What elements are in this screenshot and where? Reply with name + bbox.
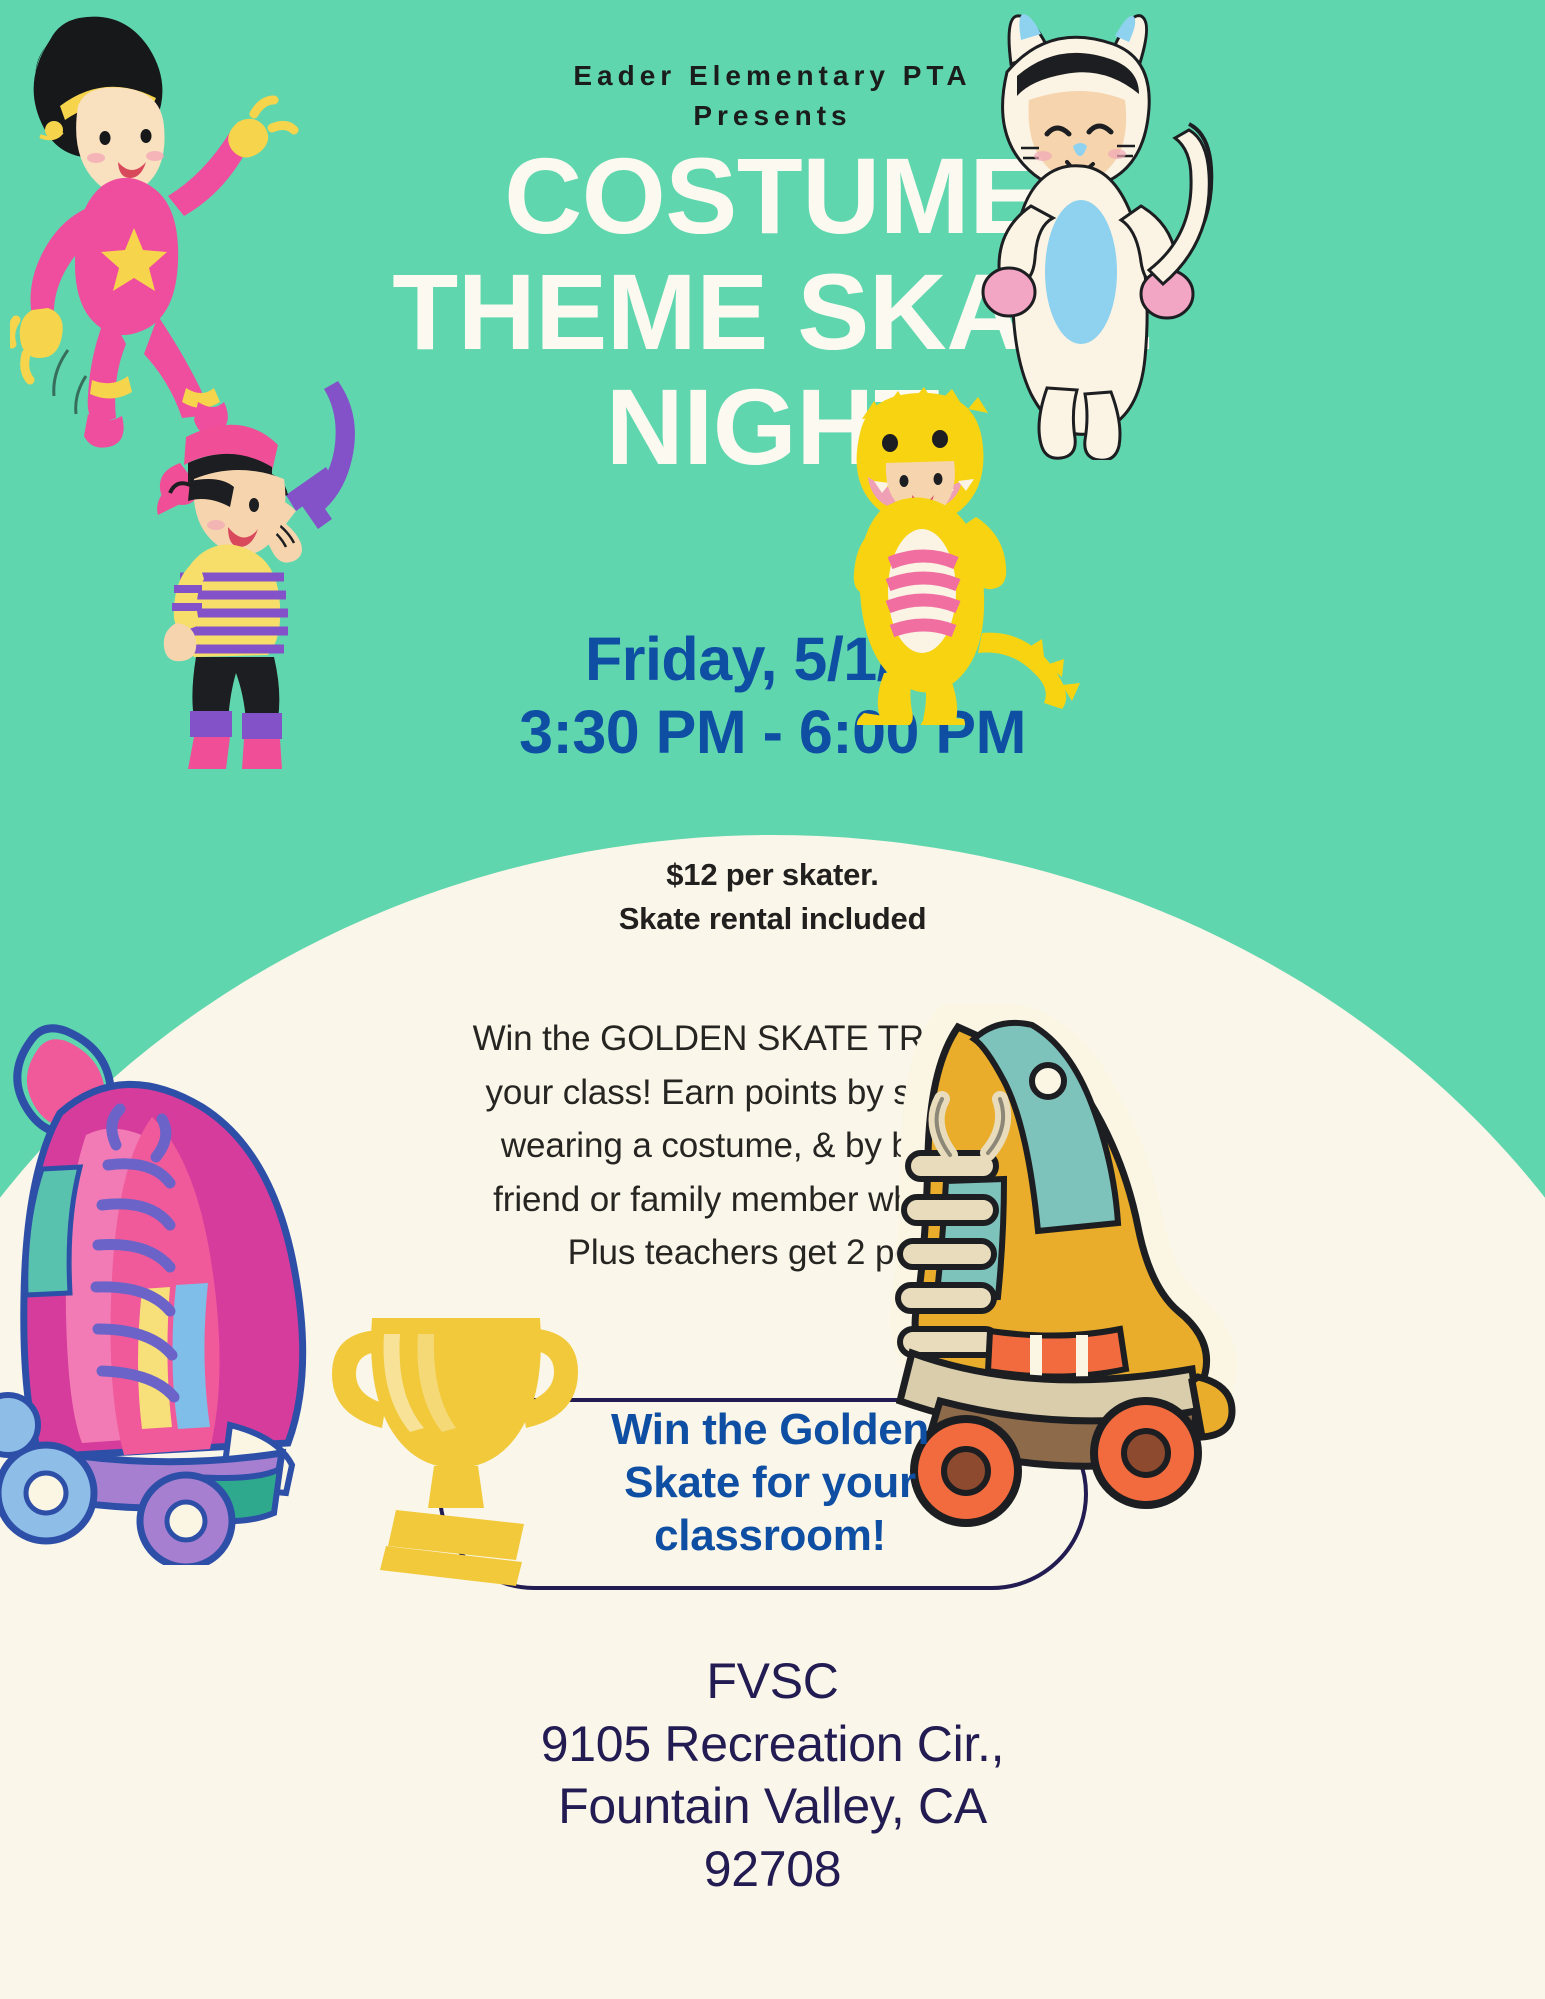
badge-line-2: Skate for your [520,1457,1020,1510]
presenter-line-1: Eader Elementary PTA [573,60,971,91]
flyer-poster: Eader Elementary PTA Presents COSTUME TH… [0,0,1545,1999]
venue-zip: 92708 [0,1838,1545,1901]
dinosaur-costume-kid-illustration [830,385,1090,725]
venue-city-state: Fountain Valley, CA [0,1775,1545,1838]
golden-skate-badge-text: Win the Golden Skate for your classroom! [520,1404,1020,1562]
price-line-1: $12 per skater. [0,853,1545,897]
badge-line-3: classroom! [520,1510,1020,1563]
venue-address: FVSC 9105 Recreation Cir., Fountain Vall… [0,1650,1545,1900]
pirate-costume-kid-illustration [150,375,400,770]
badge-line-1: Win the Golden [520,1404,1020,1457]
price-info: $12 per skater. Skate rental included [0,853,1545,942]
venue-street: 9105 Recreation Cir., [0,1713,1545,1776]
price-line-2: Skate rental included [0,897,1545,941]
venue-name: FVSC [0,1650,1545,1713]
pink-roller-skate-illustration [0,995,420,1565]
